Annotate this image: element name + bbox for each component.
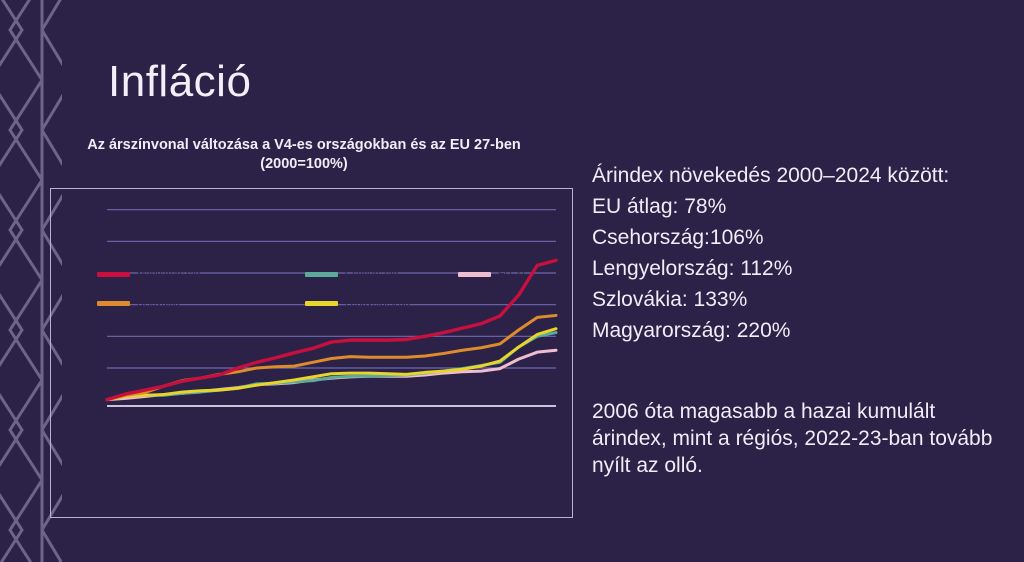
chart-frame: Magyarország Csehország EU 27 Szlovákia … [50, 188, 573, 518]
legend-swatch-csehorszag [305, 272, 338, 277]
legend-label-csehorszag: Csehország [345, 270, 398, 280]
chart-subtitle: Az árszínvonal változása a V4-es országo… [36, 136, 572, 173]
facts-list: Árindex növekedés 2000–2024 között: EU á… [592, 160, 1010, 346]
fact-item-eu: EU átlag: 78% [592, 191, 1010, 222]
chart-series-szlovákia [107, 315, 556, 399]
fact-item-slovakia: Szlovákia: 133% [592, 284, 1010, 315]
fact-item-poland: Lengyelország: 112% [592, 253, 1010, 284]
chart-subtitle-line-2: (2000=100%) [36, 155, 572, 174]
legend-label-szlovakia: Szlovákia [137, 299, 180, 309]
slide-root: Infláció Az árszínvonal változása a V4-e… [0, 0, 1024, 562]
chart-subtitle-line-1: Az árszínvonal változása a V4-es országo… [36, 136, 572, 155]
fact-item-czechia: Csehország:106% [592, 222, 1010, 253]
slide-title: Infláció [108, 58, 251, 106]
legend-label-magyarorszag: Magyarország [137, 270, 200, 280]
legend-label-eu27: EU 27 [498, 270, 526, 280]
chart-series-lengyelország [107, 329, 556, 400]
legend-swatch-szlovakia [97, 301, 130, 306]
legend-swatch-eu27 [458, 272, 491, 277]
legend-swatch-lengyelorszag [305, 301, 338, 306]
legend-label-lengyelorszag: Lengyelország [345, 299, 410, 309]
legend-swatch-magyarorszag [97, 272, 130, 277]
summary-paragraph: 2006 óta magasabb a hazai kumulált árind… [592, 398, 1012, 479]
fact-item-hungary: Magyarország: 220% [592, 315, 1010, 346]
line-chart [51, 189, 574, 519]
facts-heading: Árindex növekedés 2000–2024 között: [592, 160, 1010, 191]
